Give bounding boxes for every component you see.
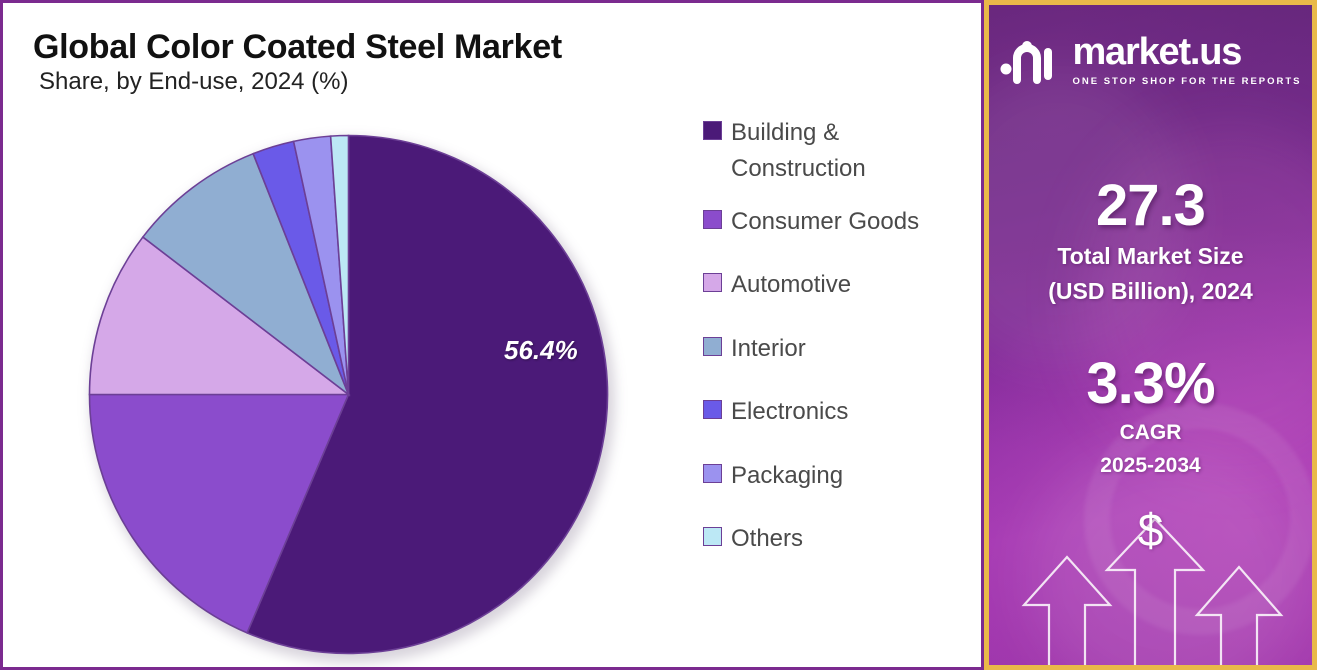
legend-item[interactable]: Electronics xyxy=(703,394,973,430)
legend-swatch-icon xyxy=(703,210,722,229)
legend-swatch-icon xyxy=(703,527,722,546)
market-us-logo-icon xyxy=(999,36,1059,84)
legend-item[interactable]: Others xyxy=(703,521,973,557)
stats-panel: market.us ONE STOP SHOP FOR THE REPORTS … xyxy=(984,0,1317,670)
legend-item[interactable]: Consumer Goods xyxy=(703,204,973,240)
cagr-value: 3.3% xyxy=(989,355,1312,413)
growth-arrows-graphic: $ xyxy=(989,495,1312,665)
market-size-caption-line1: Total Market Size xyxy=(989,243,1312,270)
brand-tagline: ONE STOP SHOP FOR THE REPORTS xyxy=(1072,76,1301,87)
pie-chart-svg xyxy=(86,132,611,657)
legend-item-label: Automotive xyxy=(731,267,851,303)
pie-chart: 56.4% xyxy=(86,132,611,657)
market-size-stat: 27.3 Total Market Size (USD Billion), 20… xyxy=(989,177,1312,305)
legend-item-label: Consumer Goods xyxy=(731,204,919,240)
cagr-stat: 3.3% CAGR 2025-2034 xyxy=(989,355,1312,479)
legend-item[interactable]: Building &Construction xyxy=(703,115,973,188)
legend-item-label: Electronics xyxy=(731,394,848,430)
legend-swatch-icon xyxy=(703,400,722,419)
infographic-poster: Global Color Coated Steel Market Share, … xyxy=(0,0,1317,670)
legend-swatch-icon xyxy=(703,273,722,292)
legend-item-label: Interior xyxy=(731,331,806,367)
brand-logo[interactable]: market.us ONE STOP SHOP FOR THE REPORTS xyxy=(989,33,1312,87)
legend-swatch-icon xyxy=(703,464,722,483)
dollar-sign-icon: $ xyxy=(989,507,1312,553)
legend-item-label: Packaging xyxy=(731,458,843,494)
chart-subtitle: Share, by End-use, 2024 (%) xyxy=(39,68,562,96)
legend-item-label: Building &Construction xyxy=(731,115,866,188)
market-size-value: 27.3 xyxy=(989,177,1312,235)
chart-panel: Global Color Coated Steel Market Share, … xyxy=(0,0,984,670)
cagr-caption-line2: 2025-2034 xyxy=(989,454,1312,479)
pie-slice-label-building-construction: 56.4% xyxy=(504,335,578,366)
legend-item[interactable]: Packaging xyxy=(703,458,973,494)
legend-item[interactable]: Interior xyxy=(703,331,973,367)
brand-name: market.us xyxy=(1072,33,1301,71)
legend-swatch-icon xyxy=(703,121,722,140)
chart-legend: Building &ConstructionConsumer GoodsAuto… xyxy=(703,115,973,585)
legend-swatch-icon xyxy=(703,337,722,356)
brand-text: market.us ONE STOP SHOP FOR THE REPORTS xyxy=(1072,33,1301,87)
legend-item[interactable]: Automotive xyxy=(703,267,973,303)
chart-heading-group: Global Color Coated Steel Market Share, … xyxy=(33,29,562,96)
market-size-caption-line2: (USD Billion), 2024 xyxy=(989,278,1312,305)
cagr-caption-line1: CAGR xyxy=(989,421,1312,446)
page-title: Global Color Coated Steel Market xyxy=(33,29,562,66)
legend-item-label: Others xyxy=(731,521,803,557)
